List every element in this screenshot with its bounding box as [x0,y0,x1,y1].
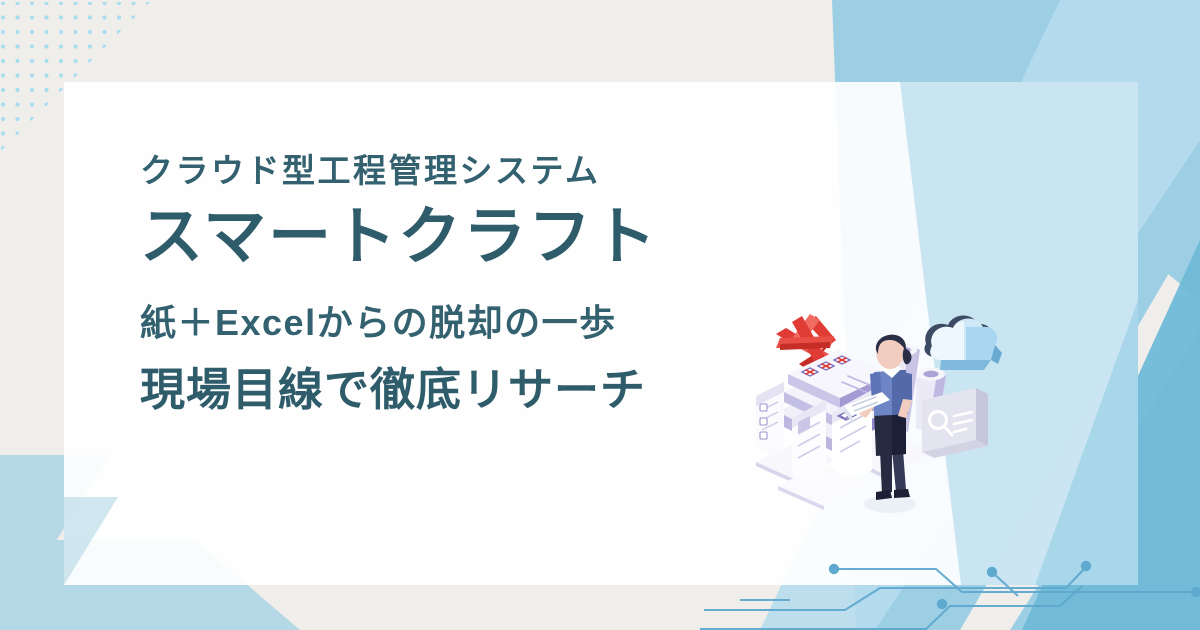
hero-banner: クラウド型工程管理システム スマートクラフト 紙＋Excelからの脱却の一歩 現… [0,0,1200,630]
circuit-traces [0,0,1200,630]
